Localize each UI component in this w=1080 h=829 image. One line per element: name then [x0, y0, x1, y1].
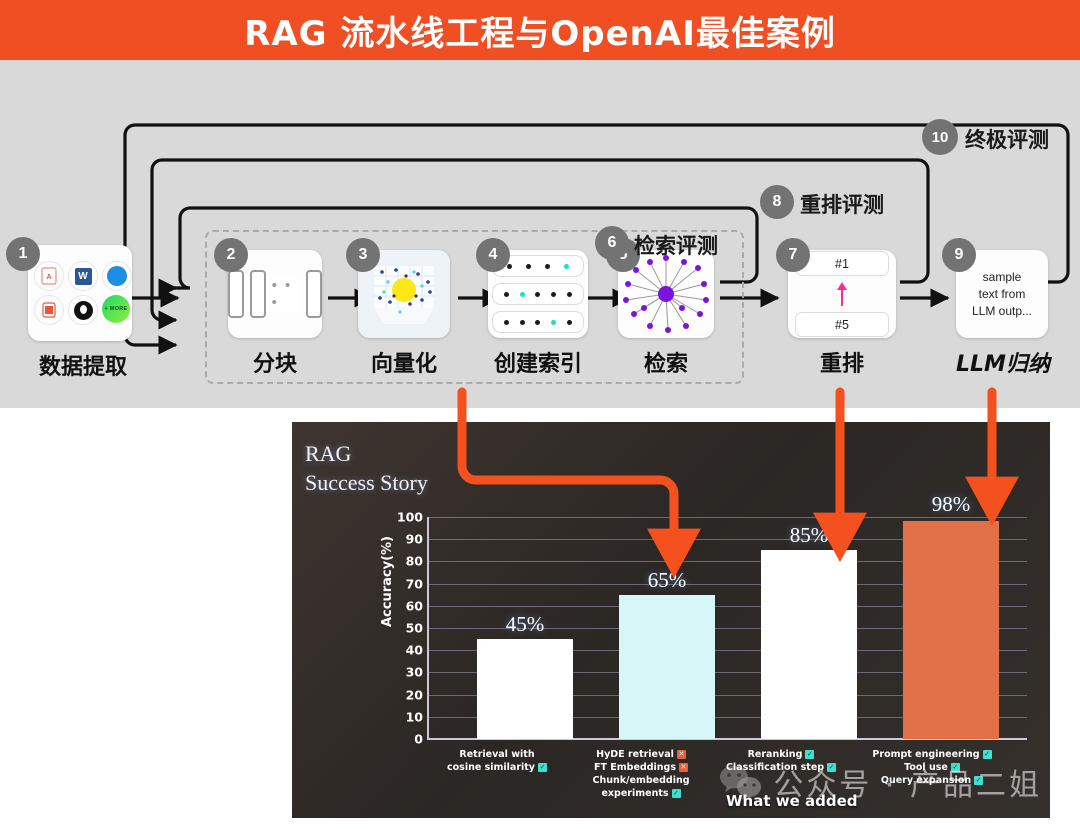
y-tick: 100 — [397, 510, 423, 525]
check-icon: ✓ — [538, 763, 547, 772]
cross-icon: ✕ — [677, 750, 686, 759]
loop-badge-6: 6 — [595, 226, 629, 260]
y-tick: 0 — [414, 732, 423, 747]
node-caption-2: 分块 — [228, 346, 322, 378]
bar-value-3: 85% — [761, 523, 857, 548]
rerank-bottom-rank: #5 — [795, 312, 889, 337]
watermark-text: 公众号 · 产品二姐 — [773, 760, 1042, 804]
x-tick-line: HyDE retrieval — [596, 749, 674, 760]
y-axis-label: Accuracy(%) — [380, 536, 395, 627]
loop-label-10: 终极评测 — [965, 124, 1049, 154]
y-tick: 20 — [406, 687, 423, 702]
bar-2: 65% — [619, 595, 715, 739]
watermark: 公众号 · 产品二姐 — [719, 760, 1042, 804]
llm-sample-line-2: text from — [958, 286, 1046, 303]
documents-card: A W + MORE — [28, 245, 132, 341]
chart-title-line-2: Success Story — [305, 468, 428, 497]
step-badge-9: 9 — [942, 238, 976, 272]
page-title: RAG 流水线工程与OpenAI最佳案例 — [244, 6, 836, 55]
check-icon: ✓ — [672, 789, 681, 798]
node-caption-1: 数据提取 — [28, 349, 138, 381]
node-llm-summary[interactable]: 9 sample text from LLM outp... LLM归纳 — [956, 250, 1052, 378]
x-tick-line: cosine similarity — [447, 762, 535, 773]
node-data-extraction[interactable]: 1 A W + MORE 数据提取 — [28, 245, 138, 381]
y-tick: 50 — [406, 621, 423, 636]
step-badge-1: 1 — [6, 237, 40, 271]
y-tick: 30 — [406, 665, 423, 680]
loop-badge-10: 10 — [922, 119, 958, 155]
x-tick-line: Chunk/embedding — [577, 774, 705, 787]
plot-area: 100 90 80 70 60 50 40 30 20 10 0 45% 65%… — [427, 517, 1027, 739]
wechat-icon — [719, 765, 763, 799]
rag-success-chart: RAG Success Story 100 90 80 70 60 50 40 … — [292, 422, 1050, 818]
documents-icon: A W + MORE — [30, 257, 130, 329]
y-tick: 40 — [406, 643, 423, 658]
node-caption-9: LLM归纳 — [956, 346, 1048, 378]
notion-icon — [68, 295, 98, 325]
chart-title-line-1: RAG — [305, 439, 428, 468]
x-tick-line: FT Embeddings — [594, 762, 676, 773]
pipeline-panel: 10 终极评测 8 重排评测 6 检索评测 1 A W + MORE 数据提取 … — [0, 60, 1080, 408]
bar-4: 98% — [903, 521, 999, 739]
cloud-icon — [102, 261, 132, 291]
llm-sample-line-1: sample — [958, 269, 1046, 286]
title-bar: RAG 流水线工程与OpenAI最佳案例 — [0, 0, 1080, 60]
node-caption-4: 创建索引 — [488, 346, 588, 378]
index-rows-icon — [492, 255, 584, 333]
node-vectorize[interactable]: 3 — [358, 250, 450, 378]
bar-value-1: 45% — [477, 612, 573, 637]
x-tick-label-2: HyDE retrieval✕ FT Embeddings✕ Chunk/emb… — [577, 748, 705, 800]
y-tick: 70 — [406, 576, 423, 591]
bar-value-4: 98% — [903, 492, 999, 517]
x-tick-line: Prompt engineering — [872, 749, 979, 760]
node-caption-7: 重排 — [788, 346, 896, 378]
index-row — [492, 283, 584, 305]
chunk-ellipsis: • • • — [272, 277, 301, 311]
node-chunking[interactable]: 2 • • • 分块 — [228, 250, 318, 378]
chunks-icon: • • • — [228, 270, 322, 318]
node-caption-5: 检索 — [618, 346, 714, 378]
loop-label-8: 重排评测 — [800, 189, 884, 219]
chart-title: RAG Success Story — [305, 439, 428, 497]
ppt-icon — [34, 295, 64, 325]
step-badge-4: 4 — [476, 238, 510, 272]
more-icon: + MORE — [102, 295, 130, 323]
check-icon: ✓ — [983, 750, 992, 759]
node-create-index[interactable]: 4 创建索引 — [488, 250, 588, 378]
llm-output-icon: sample text from LLM outp... — [958, 269, 1046, 320]
y-tick: 10 — [406, 709, 423, 724]
loop-badge-8: 8 — [760, 185, 794, 219]
y-tick: 90 — [406, 532, 423, 547]
y-tick: 80 — [406, 554, 423, 569]
x-tick-line: Retrieval with — [437, 748, 557, 761]
node-rerank[interactable]: 7 #1 #5 重排 — [788, 250, 896, 378]
node-caption-3: 向量化 — [358, 346, 450, 378]
step-badge-3: 3 — [346, 238, 380, 272]
step-badge-2: 2 — [214, 238, 248, 272]
loop-label-6: 检索评测 — [634, 230, 718, 260]
check-icon: ✓ — [805, 750, 814, 759]
llm-sample-line-3: LLM outp... — [958, 303, 1046, 320]
x-tick-line: experiments — [601, 788, 668, 799]
word-icon: W — [68, 261, 98, 291]
bar-1: 45% — [477, 639, 573, 739]
x-tick-label-1: Retrieval with cosine similarity✓ — [437, 748, 557, 774]
bar-3: 85% — [761, 550, 857, 739]
pdf-icon: A — [34, 261, 64, 291]
y-tick: 60 — [406, 598, 423, 613]
node-retrieval[interactable]: 5 — [618, 250, 714, 378]
bar-value-2: 65% — [619, 568, 715, 593]
cross-icon: ✕ — [679, 763, 688, 772]
x-tick-line: Reranking — [748, 749, 803, 760]
step-badge-7: 7 — [776, 238, 810, 272]
svg-text:A: A — [46, 274, 51, 281]
rerank-up-arrow-icon — [835, 280, 849, 308]
index-row — [492, 311, 584, 333]
